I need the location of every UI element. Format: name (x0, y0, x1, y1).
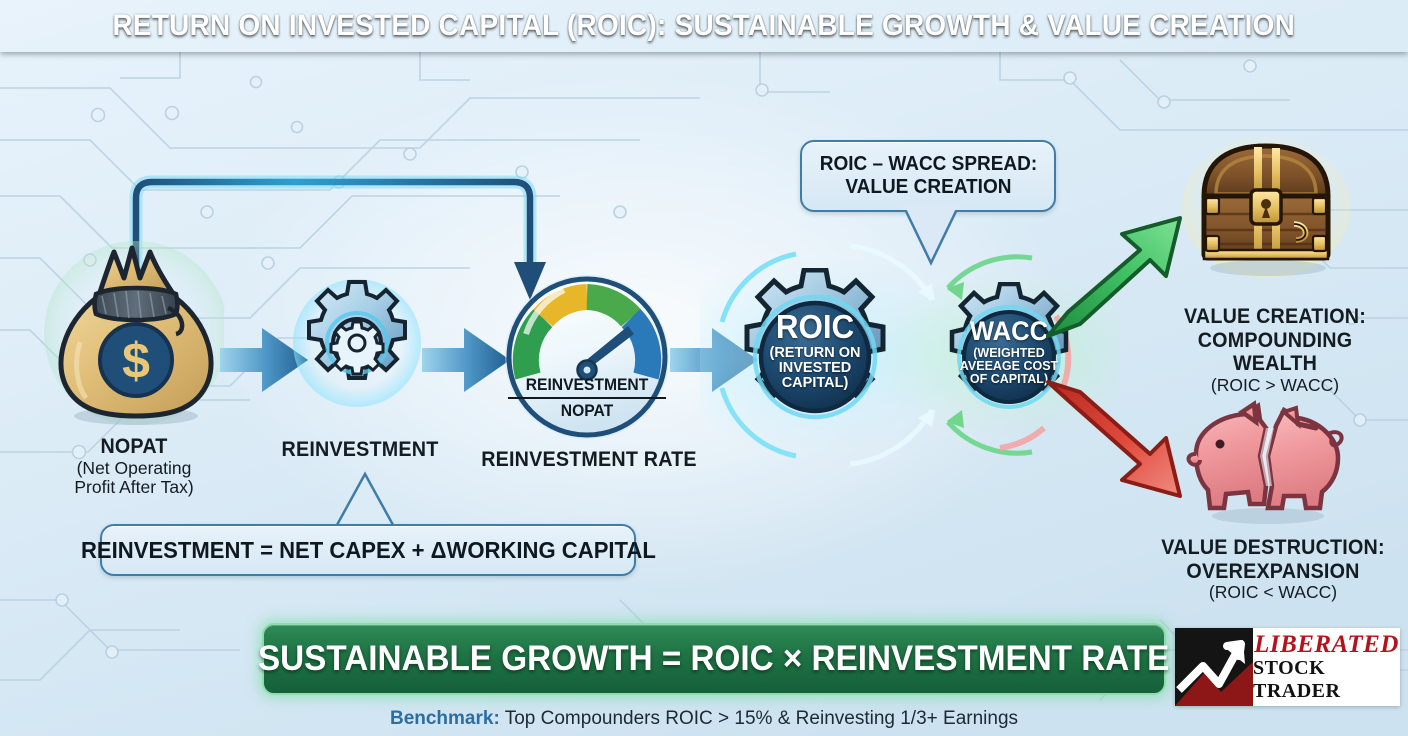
value-creation-line-2: COMPOUNDING WEALTH (1154, 329, 1397, 376)
broken-piggy-bank-icon (1180, 398, 1352, 526)
value-destruction-caption: VALUE DESTRUCTION: OVEREXPANSION (ROIC <… (1140, 536, 1406, 603)
treasure-chest-icon (1182, 138, 1350, 278)
roic-gear-icon (726, 268, 904, 446)
benchmark-label: Benchmark: (390, 708, 500, 729)
fraction-bar (508, 397, 666, 400)
sustainable-growth-banner: SUSTAINABLE GROWTH = ROIC × REINVESTMENT… (262, 623, 1166, 695)
brand-name-bottom: STOCK TRADER (1253, 657, 1400, 703)
benchmark-text: Top Compounders ROIC > 15% & Reinvesting… (500, 708, 1018, 729)
gauge-fraction: REINVESTMENT NOPAT (508, 375, 666, 421)
reinvestment-gear-icon (292, 278, 422, 408)
svg-text:$: $ (122, 333, 150, 389)
brand-wordmark: LIBERATED STOCK TRADER (1253, 628, 1400, 706)
value-creation-caption: VALUE CREATION: COMPOUNDING WEALTH (ROIC… (1146, 305, 1404, 395)
spread-callout: ROIC – WACC SPREAD: VALUE CREATION (800, 140, 1056, 212)
brand-logo[interactable]: LIBERATED STOCK TRADER (1175, 628, 1400, 706)
infographic-canvas: RETURN ON INVESTED CAPITAL (ROIC): SUSTA… (0, 0, 1408, 736)
page-title-bar: RETURN ON INVESTED CAPITAL (ROIC): SUSTA… (0, 0, 1408, 52)
value-destruction-line-2: OVEREXPANSION (1148, 560, 1398, 584)
reinvestment-formula-text: REINVESTMENT = NET CAPEX + ΔWORKING CAPI… (81, 537, 656, 564)
spread-callout-line-2: VALUE CREATION (845, 176, 1011, 199)
sustainable-growth-equation: SUSTAINABLE GROWTH = ROIC × REINVESTMENT… (258, 639, 1169, 679)
nopat-caption: NOPAT (Net Operating Profit After Tax) (24, 435, 244, 498)
page-title: RETURN ON INVESTED CAPITAL (ROIC): SUSTA… (113, 9, 1296, 43)
brand-name-top: LIBERATED (1254, 632, 1399, 657)
reinvestment-rate-caption: REINVESTMENT RATE (470, 448, 708, 472)
reinvestment-caption: REINVESTMENT (262, 438, 458, 462)
reinvestment-rate-label: REINVESTMENT RATE (477, 448, 701, 472)
value-destruction-line-1: VALUE DESTRUCTION: (1148, 536, 1398, 560)
reinvestment-label: REINVESTMENT (268, 438, 452, 462)
nopat-sublabel-2: Profit After Tax) (24, 478, 244, 498)
value-creation-line-3: (ROIC > WACC) (1146, 376, 1404, 396)
value-destruction-line-3: (ROIC < WACC) (1140, 583, 1406, 603)
benchmark-note: Benchmark: Top Compounders ROIC > 15% & … (0, 708, 1408, 730)
reinvestment-formula-callout: REINVESTMENT = NET CAPEX + ΔWORKING CAPI… (100, 524, 636, 576)
spread-callout-line-1: ROIC – WACC SPREAD: (819, 153, 1036, 176)
chart-arrow-up-icon (1175, 628, 1253, 706)
nopat-label: NOPAT (31, 435, 238, 459)
flow-arrow-2-icon (420, 320, 512, 400)
money-bag-icon: $ (44, 238, 224, 428)
gauge-denominator: NOPAT (514, 401, 659, 421)
nopat-sublabel-1: (Net Operating (24, 459, 244, 479)
gauge-numerator: REINVESTMENT (514, 375, 659, 395)
value-creation-line-1: VALUE CREATION: (1154, 305, 1397, 329)
